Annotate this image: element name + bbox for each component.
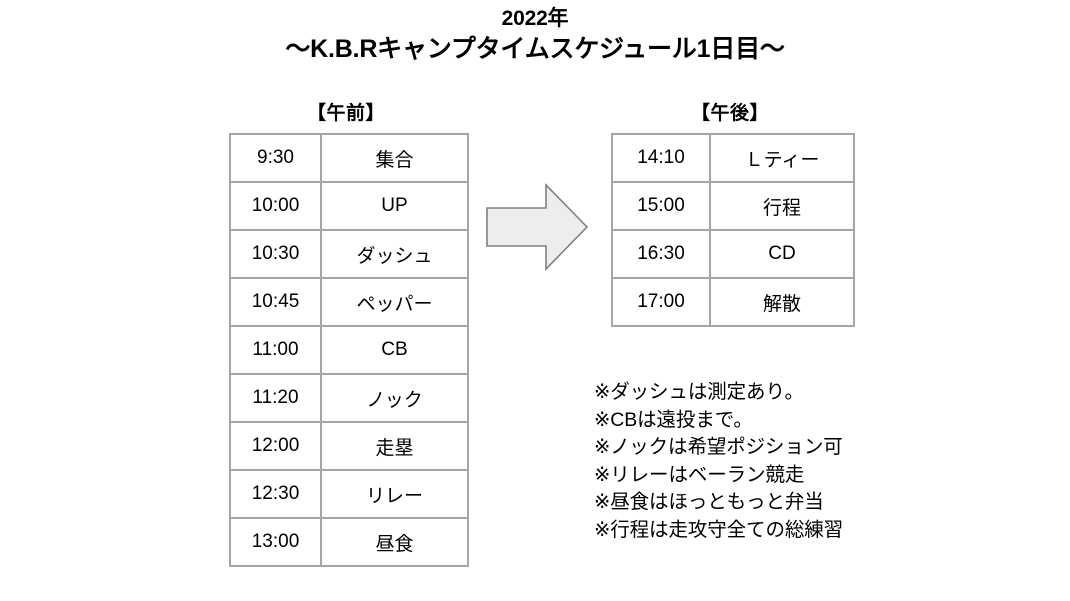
morning-activity-cell: 走塁 bbox=[321, 422, 468, 470]
afternoon-schedule-table: 14:10Ｌティー15:00行程16:30CD17:00解散 bbox=[611, 133, 855, 327]
afternoon-activity-cell: CD bbox=[710, 230, 854, 278]
afternoon-activity-cell: 行程 bbox=[710, 182, 854, 230]
morning-activity-cell: UP bbox=[321, 182, 468, 230]
afternoon-time-cell: 15:00 bbox=[612, 182, 710, 230]
morning-time-cell: 10:00 bbox=[230, 182, 321, 230]
note-item: ※CBは遠投まで。 bbox=[594, 407, 843, 435]
morning-activity-cell: ペッパー bbox=[321, 278, 468, 326]
morning-activity-cell: CB bbox=[321, 326, 468, 374]
table-row: 10:45ペッパー bbox=[230, 278, 468, 326]
morning-time-cell: 9:30 bbox=[230, 134, 321, 182]
morning-time-cell: 10:30 bbox=[230, 230, 321, 278]
morning-table-body: 9:30集合10:00UP10:30ダッシュ10:45ペッパー11:00CB11… bbox=[230, 134, 468, 566]
arrow-shape bbox=[487, 185, 587, 269]
note-item: ※行程は走攻守全ての総練習 bbox=[594, 517, 843, 545]
morning-time-cell: 10:45 bbox=[230, 278, 321, 326]
morning-time-cell: 13:00 bbox=[230, 518, 321, 566]
note-item: ※リレーはベーラン競走 bbox=[594, 462, 843, 490]
afternoon-time-cell: 16:30 bbox=[612, 230, 710, 278]
morning-activity-cell: ダッシュ bbox=[321, 230, 468, 278]
note-item: ※ノックは希望ポジション可 bbox=[594, 434, 843, 462]
morning-activity-cell: 集合 bbox=[321, 134, 468, 182]
notes-list: ※ダッシュは測定あり。※CBは遠投まで。※ノックは希望ポジション可※リレーはベー… bbox=[594, 379, 843, 544]
morning-section-header: 【午前】 bbox=[229, 98, 463, 125]
table-row: 16:30CD bbox=[612, 230, 854, 278]
table-row: 11:00CB bbox=[230, 326, 468, 374]
morning-activity-cell: 昼食 bbox=[321, 518, 468, 566]
table-row: 11:20ノック bbox=[230, 374, 468, 422]
note-item: ※ダッシュは測定あり。 bbox=[594, 379, 843, 407]
arrow-right-icon bbox=[484, 182, 590, 272]
table-row: 13:00昼食 bbox=[230, 518, 468, 566]
morning-time-cell: 12:30 bbox=[230, 470, 321, 518]
note-item: ※昼食はほっともっと弁当 bbox=[594, 489, 843, 517]
table-row: 9:30集合 bbox=[230, 134, 468, 182]
table-row: 15:00行程 bbox=[612, 182, 854, 230]
morning-activity-cell: ノック bbox=[321, 374, 468, 422]
morning-activity-cell: リレー bbox=[321, 470, 468, 518]
morning-time-cell: 11:20 bbox=[230, 374, 321, 422]
title-main: 〜K.B.Rキャンプタイムスケジュール1日目〜 bbox=[0, 33, 1070, 65]
table-row: 17:00解散 bbox=[612, 278, 854, 326]
afternoon-table-body: 14:10Ｌティー15:00行程16:30CD17:00解散 bbox=[612, 134, 854, 326]
table-row: 10:30ダッシュ bbox=[230, 230, 468, 278]
morning-schedule-table: 9:30集合10:00UP10:30ダッシュ10:45ペッパー11:00CB11… bbox=[229, 133, 469, 567]
morning-time-cell: 12:00 bbox=[230, 422, 321, 470]
afternoon-activity-cell: Ｌティー bbox=[710, 134, 854, 182]
table-row: 12:30リレー bbox=[230, 470, 468, 518]
page-title: 2022年 〜K.B.Rキャンプタイムスケジュール1日目〜 bbox=[0, 6, 1070, 65]
table-row: 12:00走塁 bbox=[230, 422, 468, 470]
afternoon-activity-cell: 解散 bbox=[710, 278, 854, 326]
afternoon-section-header: 【午後】 bbox=[611, 98, 849, 125]
afternoon-time-cell: 14:10 bbox=[612, 134, 710, 182]
table-row: 14:10Ｌティー bbox=[612, 134, 854, 182]
morning-time-cell: 11:00 bbox=[230, 326, 321, 374]
title-year: 2022年 bbox=[0, 6, 1070, 33]
table-row: 10:00UP bbox=[230, 182, 468, 230]
afternoon-time-cell: 17:00 bbox=[612, 278, 710, 326]
